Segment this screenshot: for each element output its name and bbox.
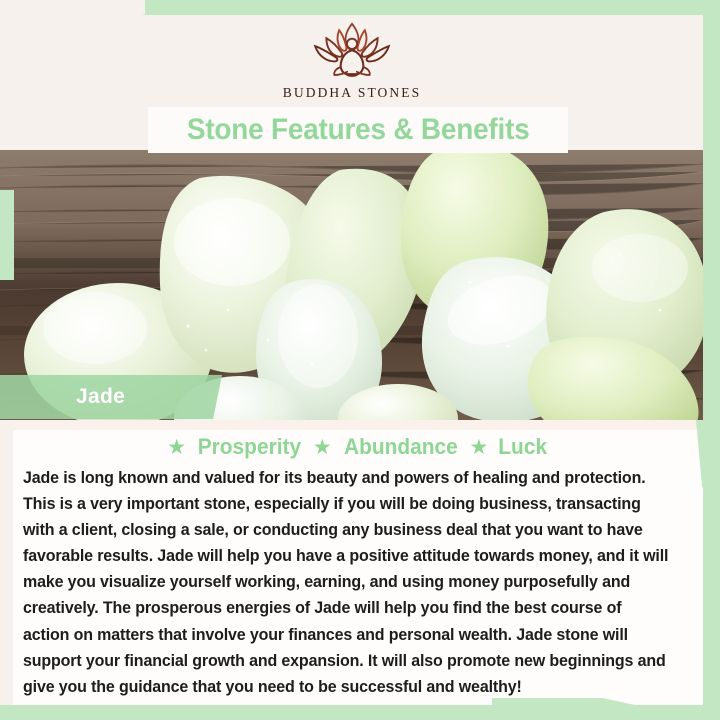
stone-name-label: Jade	[76, 385, 125, 409]
green-right-strip	[703, 0, 720, 720]
lotus-meditation-icon	[304, 19, 400, 83]
description-paragraph: Jade is long known and valued for its be…	[23, 465, 671, 700]
keyword-prosperity: Prosperity	[198, 434, 301, 460]
page-title: Stone Features & Benefits	[187, 113, 530, 147]
star-icon: ★	[167, 437, 186, 458]
keyword-luck: Luck	[499, 434, 548, 460]
content-panel: ★ Prosperity ★ Abundance ★ Luck Jade is …	[13, 420, 703, 705]
stone-caption-band: Jade	[0, 375, 222, 419]
title-banner: Stone Features & Benefits	[148, 107, 568, 153]
star-icon: ★	[470, 437, 489, 458]
brand-name: BUDDHA STONES	[283, 85, 421, 101]
photo-left-green-tab	[0, 190, 14, 280]
keyword-row: ★ Prosperity ★ Abundance ★ Luck	[13, 434, 703, 460]
star-icon: ★	[313, 437, 332, 458]
content-top-strip	[13, 420, 703, 430]
brand-logo: BUDDHA STONES	[0, 19, 704, 101]
poster-canvas: BUDDHA STONES Stone Features & Benefits	[0, 0, 720, 720]
keyword-abundance: Abundance	[344, 434, 458, 460]
